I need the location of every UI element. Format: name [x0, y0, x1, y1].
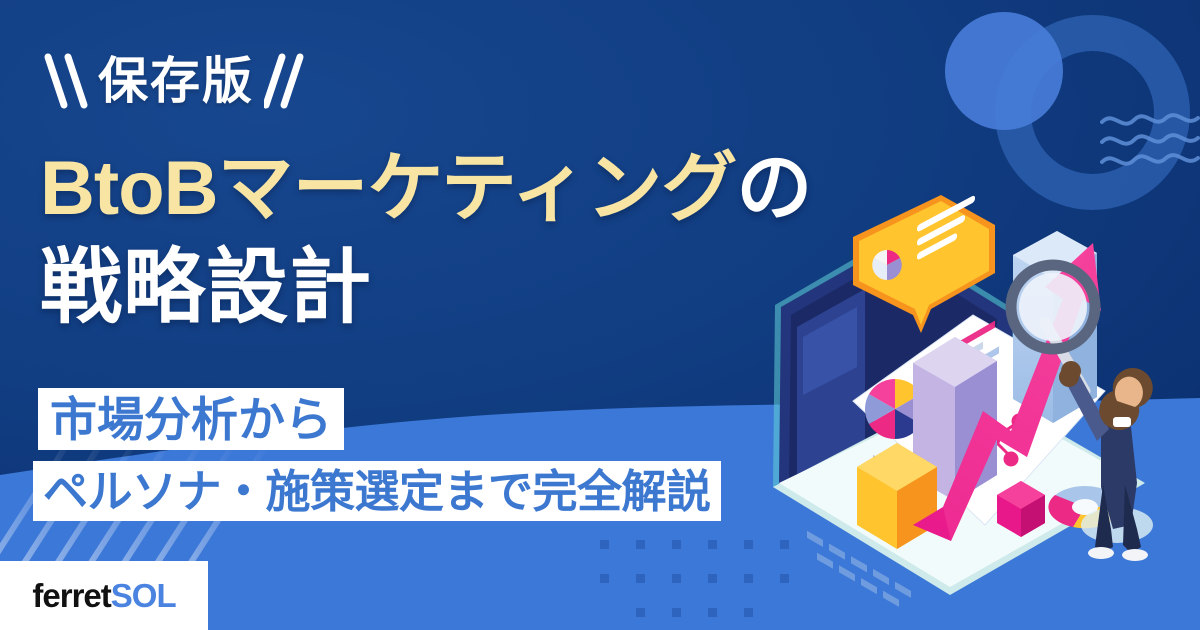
double-backslash-icon [42, 51, 88, 111]
title-tail: の [736, 146, 811, 231]
subtitle-line-1-text: 市場分析から [50, 396, 332, 443]
title-line-1: BtoBマーケティングの [40, 148, 920, 230]
badge-label: 保存版 [98, 56, 254, 106]
badge: 保存版 [42, 50, 310, 112]
subtitle-line-2: ペルソナ・施策選定まで完全解説 [33, 461, 721, 521]
title-highlight: BtoBマーケティング [40, 146, 736, 231]
banner-canvas: 保存版 BtoBマーケティングの 戦略設計 市場分析から ペルソナ・施策選定まで… [0, 0, 1200, 630]
logo[interactable]: ferretSOL [0, 561, 208, 630]
filled-circle-shape [945, 12, 1063, 130]
wavy-lines-icon [1100, 112, 1200, 170]
subtitle-line-2-text: ペルソナ・施策選定まで完全解説 [43, 469, 711, 514]
logo-primary: ferret [32, 577, 110, 614]
title-line-2: 戦略設計 [40, 244, 920, 333]
logo-secondary: SOL [111, 577, 176, 614]
logo-text: ferretSOL [32, 579, 175, 612]
subtitle-line-1: 市場分析から [38, 388, 344, 450]
page-title: BtoBマーケティングの 戦略設計 [40, 148, 920, 333]
double-forwardslash-icon [264, 51, 310, 111]
